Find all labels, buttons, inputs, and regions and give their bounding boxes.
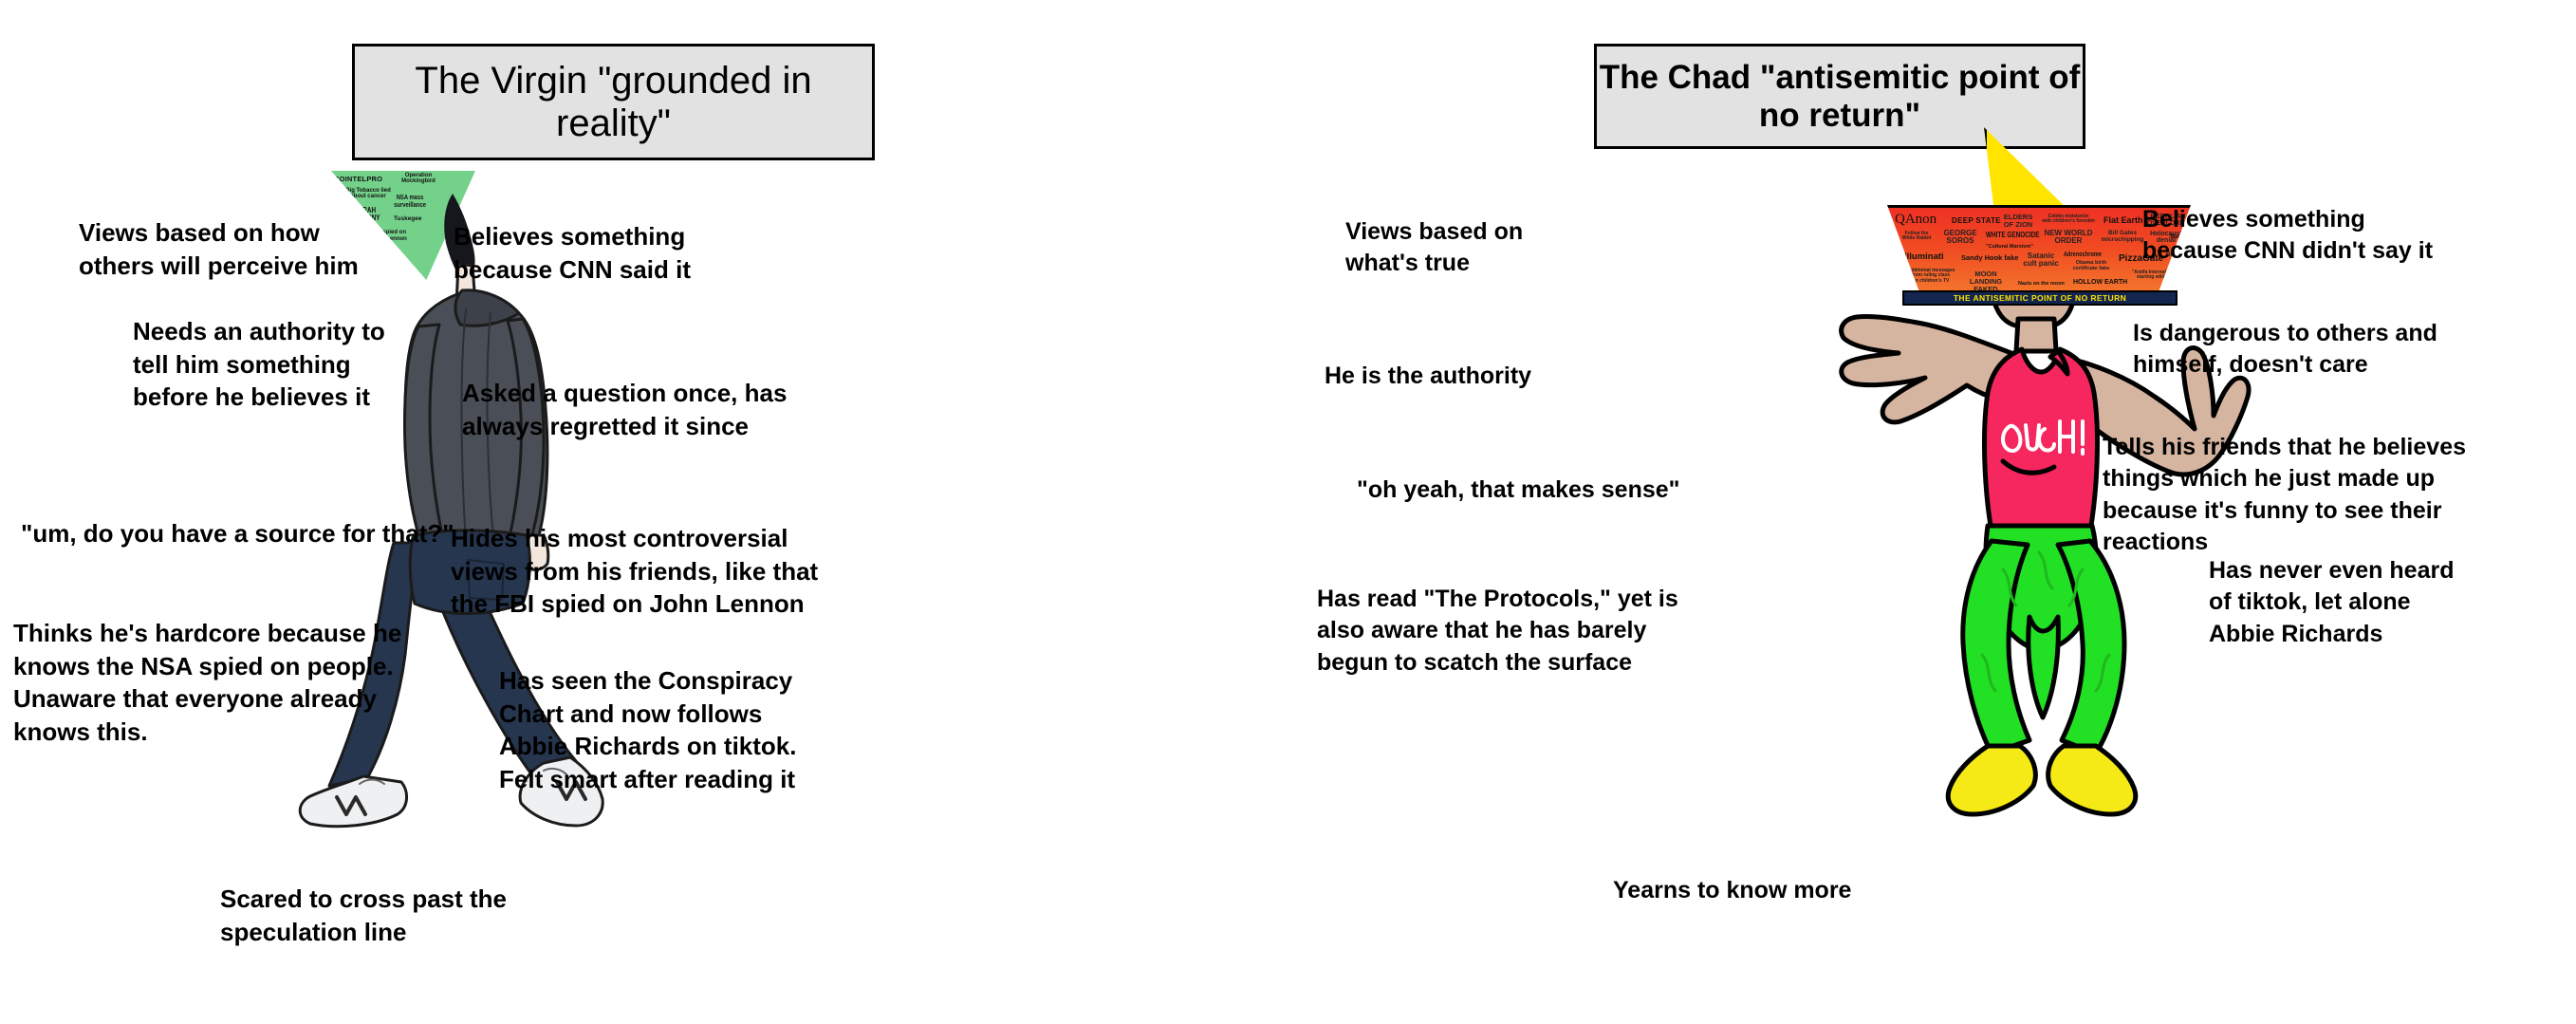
pyramid-label-celebs-foreskin: Celebs moisturize with children's foresk… (2039, 214, 2098, 225)
caption-hardcore-nsa: Thinks he's hardcore because he knows th… (13, 617, 507, 748)
caption-never-heard-tiktok: Has never even heard of tiktok, let alon… (2209, 555, 2541, 650)
pyramid-label-bill-gates-microchipping: Bill Gates microchipping (2098, 231, 2147, 244)
virgin-title-box: The Virgin "grounded in reality" (352, 44, 875, 160)
pyramid-label-deep-state: DEEP STATE (1952, 216, 2001, 225)
caption-source-quote: "um, do you have a source for that?" (21, 517, 457, 550)
caption-needs-authority: Needs an authority to tell him something… (133, 315, 446, 414)
caption-asked-question: Asked a question once, has always regret… (462, 377, 842, 442)
caption-yearns-to-know-more: Yearns to know more (1613, 875, 1936, 906)
caption-dangerous: Is dangerous to others and himself, does… (2133, 318, 2531, 382)
pyramid-label-hollow-earth: HOLLOW EARTH (2073, 279, 2127, 286)
virgin-title-text: The Virgin "grounded in reality" (355, 60, 872, 145)
pyramid-label-obama-birth-certificate: Obama birth certificate fake (2067, 261, 2115, 272)
caption-views-true: Views based on what's true (1345, 216, 1630, 280)
pyramid-label-flat-earth: Flat Earth (2103, 215, 2143, 225)
caption-is-authority: He is the authority (1325, 361, 1638, 392)
pyramid-label-george-soros: GEORGE SOROS (1938, 230, 1982, 246)
pyramid-label-white-rabbit: Follow the White Rabbit (1897, 232, 1937, 242)
pyramid-label-satanic-cult-panic: Satanic cult panic (2020, 252, 2062, 269)
chad-title-text: The Chad "antisemitic point of no return… (1597, 59, 2083, 133)
pyramid-label-nazis-on-the-moon: Nazis on the moon (2018, 281, 2065, 287)
pyramid-label-cultural-marxism: "Cultural Marxism" (1986, 244, 2033, 250)
chad-panel: The Chad "antisemitic point of no return… (1288, 0, 2576, 1024)
pyramid-label-white-genocide: WHITE GENOCIDE (1986, 231, 2040, 239)
pyramid-label-new-world-order: NEW WORLD ORDER (2041, 230, 2096, 246)
pyramid-label-qanon: QAnon (1895, 212, 1937, 228)
caption-tells-friends: Tells his friends that he believes thing… (2103, 432, 2539, 558)
pyramid-label-elders-of-zion: ELDERS OF ZION (1999, 214, 2037, 229)
caption-conspiracy-chart: Has seen the Conspiracy Chart and now fo… (499, 664, 879, 795)
pyramid-label-illuminati: Illuminati (1904, 251, 1944, 262)
antisemitic-point-banner: THE ANTISEMITIC POINT OF NO RETURN (1902, 290, 2178, 306)
antisemitic-point-banner-text: THE ANTISEMITIC POINT OF NO RETURN (1954, 293, 2126, 303)
pyramid-label-sandy-hook: Sandy Hook fake (1961, 253, 2018, 262)
caption-views-perception: Views based on how others will perceive … (79, 216, 392, 282)
caption-hides-views: Hides his most controversial views from … (451, 522, 897, 621)
virgin-panel: The Virgin "grounded in reality" COINTEL… (0, 0, 1288, 1024)
caption-makes-sense-quote: "oh yeah, that makes sense" (1357, 475, 1765, 506)
pyramid-label-adrenochrome: Adrenochrome (2064, 250, 2102, 258)
caption-protocols: Has read "The Protocols," yet is also aw… (1317, 584, 1772, 679)
caption-speculation-line: Scared to cross past the speculation lin… (220, 883, 600, 948)
caption-cnn-said: Believes something because CNN said it (454, 220, 776, 286)
caption-cnn-didnt-say: Believes something because CNN didn't sa… (2142, 204, 2541, 268)
